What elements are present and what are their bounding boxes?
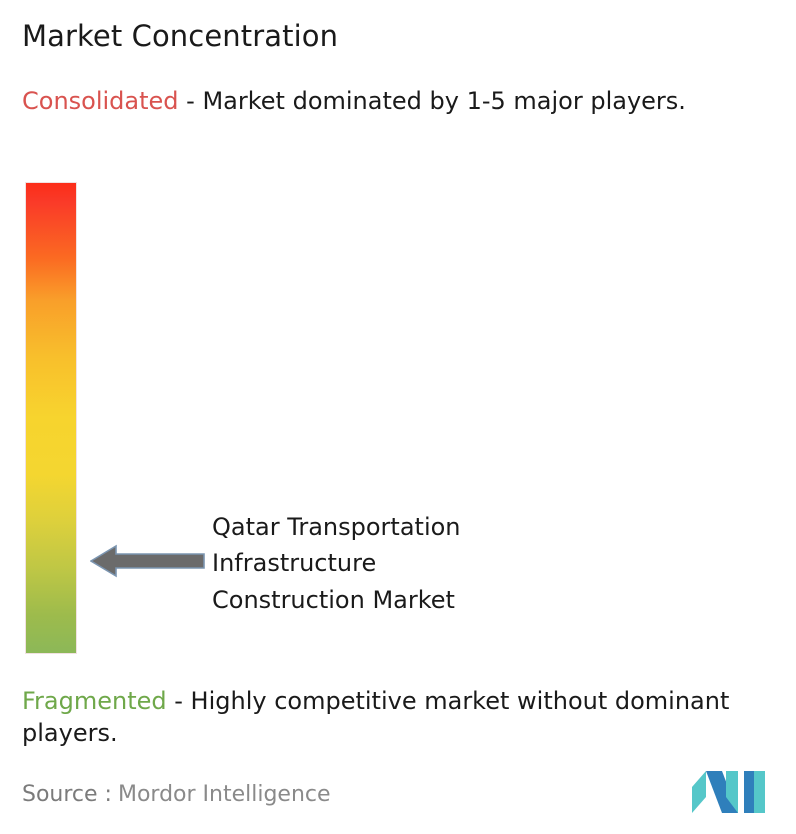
callout-line-1: Qatar Transportation	[212, 509, 632, 545]
source-value: Mordor Intelligence	[112, 782, 331, 807]
pointer-arrow-icon	[90, 541, 205, 581]
market-concentration-infographic: Market Concentration Consolidated - Mark…	[0, 0, 796, 834]
concentration-gradient-bar	[26, 183, 76, 653]
legend-consolidated: Consolidated - Market dominated by 1-5 m…	[22, 86, 780, 118]
mordor-intelligence-logo-icon	[692, 769, 766, 814]
callout-line-3: Construction Market	[212, 582, 632, 618]
legend-key-consolidated: Consolidated	[22, 87, 179, 115]
page-title: Market Concentration	[22, 20, 762, 53]
legend-fragmented: Fragmented - Highly competitive market w…	[22, 686, 780, 750]
legend-key-fragmented: Fragmented	[22, 687, 167, 715]
legend-description-consolidated: - Market dominated by 1-5 major players.	[179, 87, 686, 115]
callout-market-label: Qatar Transportation Infrastructure Cons…	[212, 509, 632, 618]
source-note: Source :Mordor Intelligence	[22, 782, 331, 807]
callout-line-2: Infrastructure	[212, 545, 632, 581]
source-label: Source :	[22, 782, 112, 807]
